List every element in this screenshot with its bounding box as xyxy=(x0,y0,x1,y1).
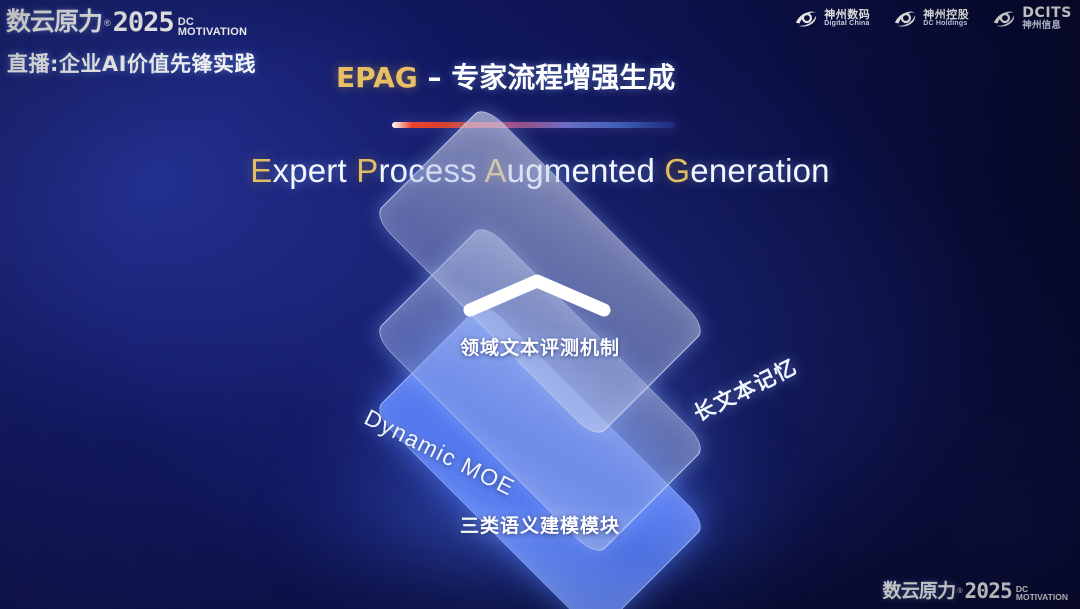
footer-brand-motivation: MOTIVATION xyxy=(1016,594,1068,602)
presentation-slide: 数云原力 ® 2025 DC MOTIVATION 直播:企业AI价值先锋实践 … xyxy=(0,0,1080,609)
stack-layer-middle-label-right: 长文本记忆 xyxy=(688,351,802,428)
layered-stack-diagram: 领域文本评测机制 Dynamic MOE 长文本记忆 三类语义建模模块 xyxy=(0,0,1080,609)
stack-layer-top-label: 领域文本评测机制 xyxy=(0,333,1080,360)
footer-brand-name-cn: 数云原力 xyxy=(883,576,956,603)
stack-layer-bottom-label: 三类语义建模模块 xyxy=(0,511,1080,538)
footer-brand-year: 2025 xyxy=(965,579,1012,603)
footer-brand-watermark: 数云原力 ® 2025 DC MOTIVATION xyxy=(883,576,1068,603)
footer-brand-dc-motivation: DC MOTIVATION xyxy=(1016,586,1068,602)
footer-registered-mark-icon: ® xyxy=(957,588,962,595)
